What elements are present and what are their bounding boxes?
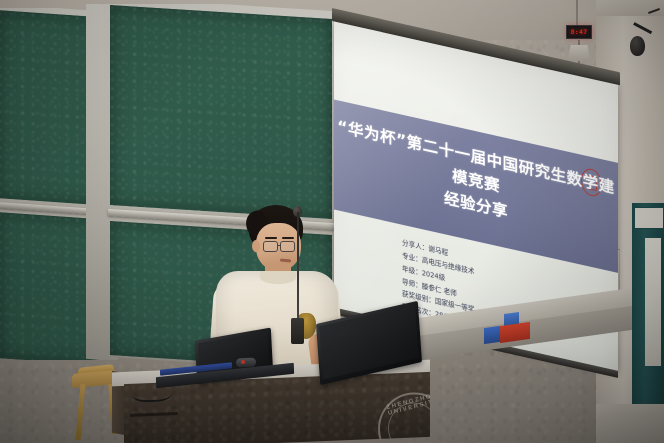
door-window <box>645 238 661 366</box>
wall-conduit <box>576 0 578 27</box>
floor <box>596 404 664 443</box>
ceiling-edge <box>596 0 664 16</box>
door-transom-window <box>634 207 664 229</box>
glasses-lens-right <box>280 241 295 252</box>
chalk-dust <box>110 5 332 219</box>
wall-lamp <box>568 45 590 61</box>
presenter-ear <box>252 240 260 252</box>
chalkboard-surface-right-upper <box>110 5 332 219</box>
classroom-presentation-scene: 8:47 “华为杯”第二十一届中国研究生数学建模竞赛 经验分享 分享人：谢马程 … <box>0 0 664 443</box>
presenter-eyebrow-right <box>282 237 294 239</box>
ceiling-speaker <box>630 36 645 56</box>
glasses-lens-left <box>263 241 278 252</box>
led-clock-display: 8:47 <box>566 25 592 39</box>
mouse-indicator-light <box>241 360 245 364</box>
led-clock-text: 8:47 <box>571 28 588 36</box>
podium-mouse[interactable] <box>236 357 256 367</box>
presenter-collar <box>260 271 296 284</box>
microphone-base <box>291 318 304 344</box>
podium-cable <box>132 381 172 402</box>
microphone-gooseneck <box>297 212 299 330</box>
glasses-bridge <box>278 245 281 246</box>
chalk-box-blue <box>484 326 500 344</box>
presenter-eyebrow-left <box>265 237 277 239</box>
